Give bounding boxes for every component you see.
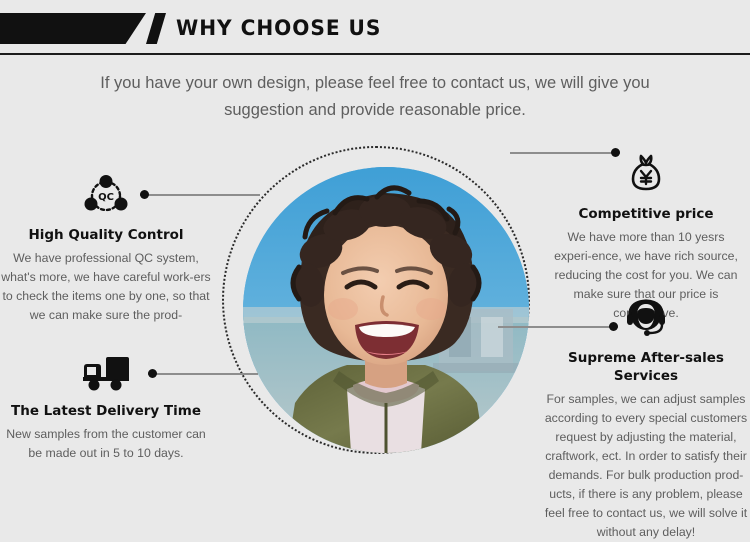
feature-high-quality-control: QC High Quality Control We have professi… (0, 175, 212, 325)
feature-after-sales-services: Supreme After-sales Services For samples… (544, 296, 748, 542)
header-slash-icon (146, 13, 166, 44)
hero-photo (243, 167, 529, 453)
qc-circles-icon: QC (0, 175, 212, 220)
feature-title: Competitive price (548, 205, 744, 223)
feature-title: The Latest Delivery Time (6, 402, 206, 420)
money-bag-yen-icon (548, 152, 744, 199)
svg-text:QC: QC (98, 192, 114, 203)
feature-title: Supreme After-sales Services (544, 349, 748, 385)
feature-body: We have professional QC system, what's m… (0, 249, 212, 325)
delivery-truck-icon (6, 355, 206, 396)
page-title: WHY CHOOSE US (176, 12, 381, 44)
page-subtitle: If you have your own design, please feel… (75, 70, 675, 124)
headset-support-icon (544, 296, 748, 343)
feature-body: New samples from the customer can be mad… (6, 425, 206, 463)
header-divider (0, 53, 750, 55)
feature-latest-delivery-time: The Latest Delivery Time New samples fro… (6, 355, 206, 463)
header-banner-shape (0, 13, 146, 44)
feature-body: For samples, we can adjust samples accor… (544, 390, 748, 542)
page-header: WHY CHOOSE US (0, 0, 750, 55)
feature-title: High Quality Control (0, 226, 212, 244)
